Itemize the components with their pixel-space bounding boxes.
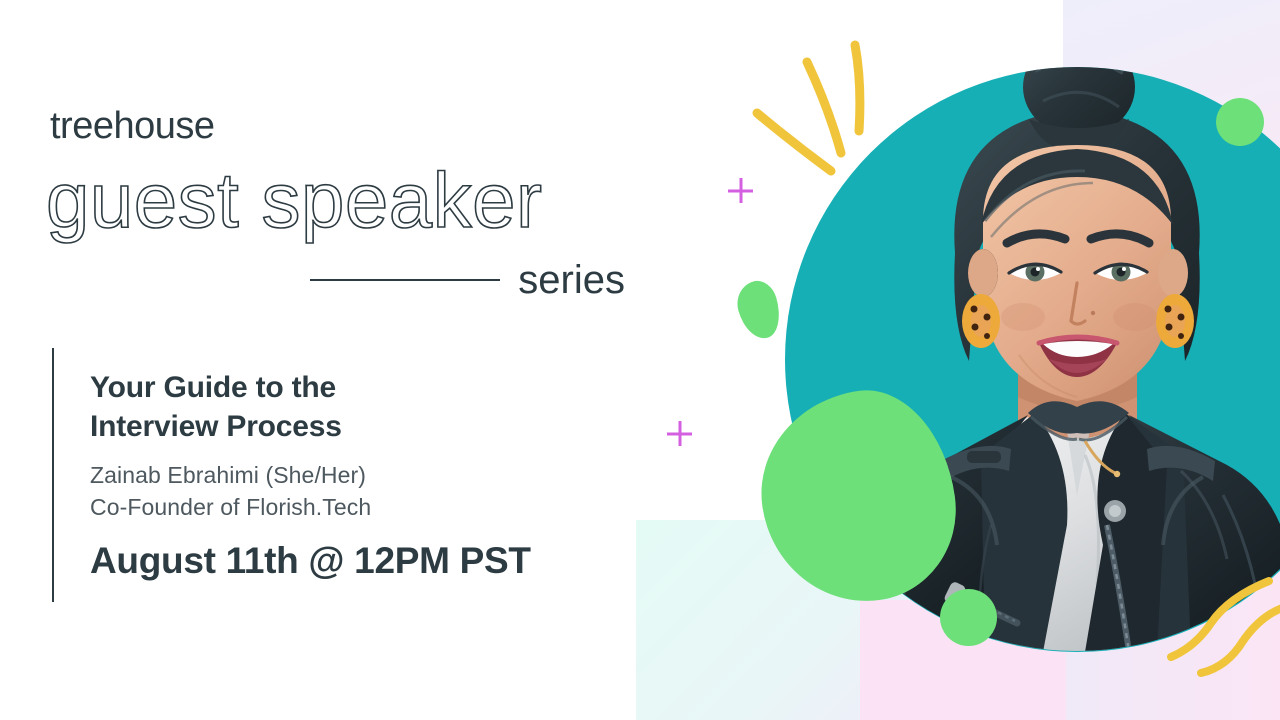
- green-circle-bottom-icon: [940, 589, 997, 646]
- page-title: guest speaker: [46, 160, 542, 242]
- yellow-squiggle-strokes-icon: [1165, 575, 1280, 685]
- vertical-divider-rule: [52, 348, 54, 602]
- session-info-block: Your Guide to the Interview Process Zain…: [90, 368, 630, 582]
- speaker-name: Zainab Ebrahimi (She/Her): [90, 460, 630, 492]
- content-column: treehouse guest speaker series Your Guid…: [0, 0, 640, 720]
- green-blob-small-icon: [732, 277, 786, 344]
- yellow-burst-strokes-icon: [745, 35, 885, 185]
- session-datetime: August 11th @ 12PM PST: [90, 541, 630, 582]
- plus-mark-middle-icon: [667, 421, 692, 446]
- series-divider-rule: [310, 279, 500, 281]
- treehouse-wordmark: treehouse: [50, 107, 215, 145]
- session-title-line-2: Interview Process: [90, 407, 630, 446]
- speaker-role: Co-Founder of Florish.Tech: [90, 492, 630, 524]
- series-row: series: [310, 258, 625, 302]
- series-label: series: [518, 260, 625, 300]
- guest-speaker-promo-slide: treehouse guest speaker series Your Guid…: [0, 0, 1280, 720]
- session-title: Your Guide to the Interview Process: [90, 368, 630, 446]
- session-title-line-1: Your Guide to the: [90, 368, 630, 407]
